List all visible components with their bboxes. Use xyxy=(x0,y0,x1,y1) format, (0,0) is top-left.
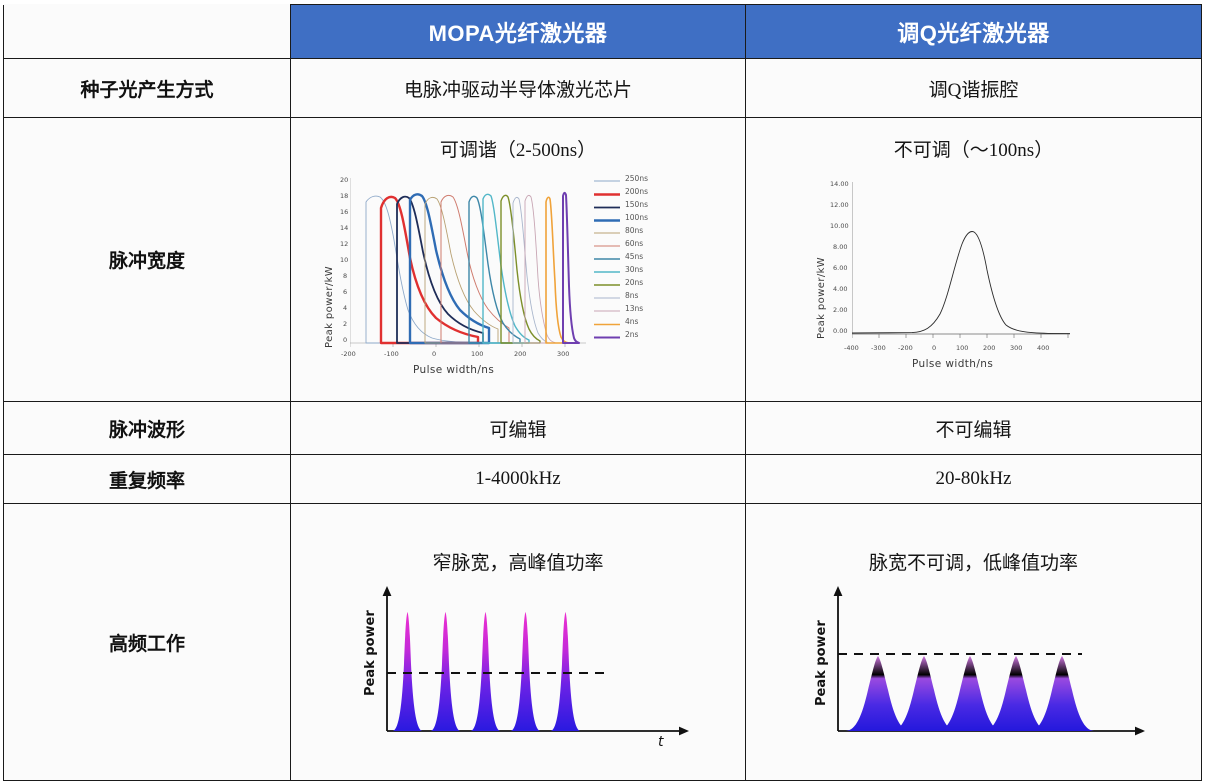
table-header-row: MOPA光纤激光器 调Q光纤激光器 xyxy=(4,5,1202,59)
cell-mopa-rep-rate: 1-4000kHz xyxy=(291,455,746,504)
qswitch-highfreq-plot xyxy=(830,586,1160,761)
qswitch-ytick-14: 14.00 xyxy=(830,180,849,188)
mopa-ytick-6: 6 xyxy=(343,288,347,296)
laser-comparison-table: MOPA光纤激光器 调Q光纤激光器 种子光产生方式 电脉冲驱动半导体激光芯片 调… xyxy=(3,4,1202,781)
mopa-highfreq-ylabel: Peak power xyxy=(363,610,378,696)
legend-label: 100ns xyxy=(625,213,648,222)
legend-item: 8ns xyxy=(594,291,682,304)
qswitch-chart-ylabel: Peak power/kW xyxy=(816,256,827,338)
legend-item: 250ns xyxy=(594,174,682,187)
qswitch-ytick-8: 8.00 xyxy=(833,243,847,251)
mopa-ytick-20: 20 xyxy=(340,176,348,184)
mopa-ytick-16: 16 xyxy=(340,208,348,216)
qswitch-chart-xlabel: Pulse width/ns xyxy=(912,358,993,370)
mopa-ytick-10: 10 xyxy=(340,256,348,264)
row-label-high-frequency: 高频工作 xyxy=(4,504,291,781)
cell-qswitch-high-frequency: 脉宽不可调，低峰值功率 Peak power xyxy=(746,504,1202,781)
table-row: 种子光产生方式 电脉冲驱动半导体激光芯片 调Q谐振腔 xyxy=(4,59,1202,118)
legend-label: 4ns xyxy=(625,317,638,326)
mopa-ytick-0: 0 xyxy=(343,336,347,344)
mopa-ytick-12: 12 xyxy=(340,240,348,248)
legend-label: 20ns xyxy=(625,278,643,287)
mopa-ytick-18: 18 xyxy=(340,192,348,200)
row-label-seed-source: 种子光产生方式 xyxy=(4,59,291,118)
cell-mopa-pulse-width: 可调谐（2-500ns） Peak power/kW 20 18 16 14 1… xyxy=(291,118,746,402)
qswitch-ytick-12: 12.00 xyxy=(830,201,849,209)
legend-label: 150ns xyxy=(625,200,648,209)
qswitch-highfreq-title: 脉宽不可调，低峰值功率 xyxy=(746,548,1201,575)
legend-label: 200ns xyxy=(625,187,648,196)
table-row: 脉冲波形 可编辑 不可编辑 xyxy=(4,402,1202,455)
cell-mopa-high-frequency: 窄脉宽，高峰值功率 Peak power xyxy=(291,504,746,781)
cell-mopa-pulse-shape: 可编辑 xyxy=(291,402,746,455)
qswitch-highfreq-figure: 脉宽不可调，低峰值功率 Peak power xyxy=(746,506,1201,778)
mopa-chart-legend: 250ns 200ns 150ns 100ns 80ns 60ns 45ns 3… xyxy=(594,174,682,343)
legend-item: 100ns xyxy=(594,213,682,226)
cell-qswitch-pulse-shape: 不可编辑 xyxy=(746,402,1202,455)
cell-qswitch-rep-rate: 20-80kHz xyxy=(746,455,1202,504)
row-label-rep-rate: 重复频率 xyxy=(4,455,291,504)
qswitch-xtick-100: 100 xyxy=(956,344,968,352)
qswitch-xtick-0: 0 xyxy=(932,344,936,352)
qswitch-pulse-width-text: 不可调（～100ns） xyxy=(746,126,1201,162)
mopa-xtick-100: 100 xyxy=(471,350,483,358)
legend-label: 13ns xyxy=(625,304,643,313)
legend-item: 80ns xyxy=(594,226,682,239)
table-row: 重复频率 1-4000kHz 20-80kHz xyxy=(4,455,1202,504)
legend-label: 2ns xyxy=(625,330,638,339)
mopa-xtick-300: 300 xyxy=(557,350,569,358)
mopa-highfreq-figure: 窄脉宽，高峰值功率 Peak power xyxy=(291,506,745,778)
cell-mopa-seed-source: 电脉冲驱动半导体激光芯片 xyxy=(291,59,746,118)
qswitch-xtick-300: 300 xyxy=(1010,344,1022,352)
legend-item: 45ns xyxy=(594,252,682,265)
legend-label: 80ns xyxy=(625,226,643,235)
legend-label: 250ns xyxy=(625,174,648,183)
table-row: 高频工作 窄脉宽，高峰值功率 Peak power xyxy=(4,504,1202,781)
mopa-ytick-4: 4 xyxy=(343,304,347,312)
legend-item: 30ns xyxy=(594,265,682,278)
mopa-xtick-200: 200 xyxy=(514,350,526,358)
header-mopa: MOPA光纤激光器 xyxy=(291,5,746,59)
mopa-highfreq-xlabel: t xyxy=(658,734,664,750)
mopa-ytick-2: 2 xyxy=(343,320,347,328)
qswitch-xtick--200: -200 xyxy=(898,344,913,352)
legend-label: 60ns xyxy=(625,239,643,248)
qswitch-xtick--300: -300 xyxy=(871,344,886,352)
mopa-pulse-chart: Peak power/kW 20 18 16 14 12 10 8 6 4 2 … xyxy=(291,162,745,394)
mopa-xtick--100: -100 xyxy=(384,350,399,358)
mopa-plot-area xyxy=(350,178,586,348)
mopa-chart-xlabel: Pulse width/ns xyxy=(413,364,494,376)
mopa-highfreq-plot xyxy=(379,586,699,761)
mopa-pulse-width-text: 可调谐（2-500ns） xyxy=(291,126,745,162)
row-label-pulse-width: 脉冲宽度 xyxy=(4,118,291,402)
qswitch-plot-area xyxy=(852,182,1070,342)
mopa-highfreq-title: 窄脉宽，高峰值功率 xyxy=(291,548,745,575)
legend-item: 13ns xyxy=(594,304,682,317)
mopa-xtick-0: 0 xyxy=(432,350,436,358)
header-corner-cell xyxy=(4,5,291,59)
legend-label: 8ns xyxy=(625,291,638,300)
header-qswitch: 调Q光纤激光器 xyxy=(746,5,1202,59)
table-row: 脉冲宽度 可调谐（2-500ns） Peak power/kW 20 18 16… xyxy=(4,118,1202,402)
legend-item: 60ns xyxy=(594,239,682,252)
qswitch-ytick-10: 10.00 xyxy=(830,222,849,230)
qswitch-xtick-400: 400 xyxy=(1037,344,1049,352)
legend-item: 200ns xyxy=(594,187,682,200)
legend-label: 30ns xyxy=(625,265,643,274)
legend-item: 150ns xyxy=(594,200,682,213)
mopa-ytick-8: 8 xyxy=(343,272,347,280)
qswitch-ytick-2: 2.00 xyxy=(833,306,847,314)
mopa-chart-ylabel: Peak power/kW xyxy=(324,265,335,347)
qswitch-highfreq-ylabel: Peak power xyxy=(814,620,829,706)
qswitch-xtick-200: 200 xyxy=(983,344,995,352)
qswitch-ytick-4: 4.00 xyxy=(833,285,847,293)
cell-qswitch-pulse-width: 不可调（～100ns） Peak power/kW 14.00 12.00 10… xyxy=(746,118,1202,402)
qswitch-pulse-chart: Peak power/kW 14.00 12.00 10.00 8.00 6.0… xyxy=(746,162,1201,394)
qswitch-ytick-0: 0.00 xyxy=(833,327,847,335)
legend-item: 2ns xyxy=(594,330,682,343)
comparison-table-page: MOPA光纤激光器 调Q光纤激光器 种子光产生方式 电脉冲驱动半导体激光芯片 调… xyxy=(0,0,1206,778)
legend-item: 20ns xyxy=(594,278,682,291)
row-label-pulse-shape: 脉冲波形 xyxy=(4,402,291,455)
cell-qswitch-seed-source: 调Q谐振腔 xyxy=(746,59,1202,118)
legend-item: 4ns xyxy=(594,317,682,330)
legend-label: 45ns xyxy=(625,252,643,261)
qswitch-ytick-6: 6.00 xyxy=(833,264,847,272)
mopa-xtick--200: -200 xyxy=(341,350,356,358)
mopa-ytick-14: 14 xyxy=(340,224,348,232)
qswitch-xtick--400: -400 xyxy=(844,344,859,352)
